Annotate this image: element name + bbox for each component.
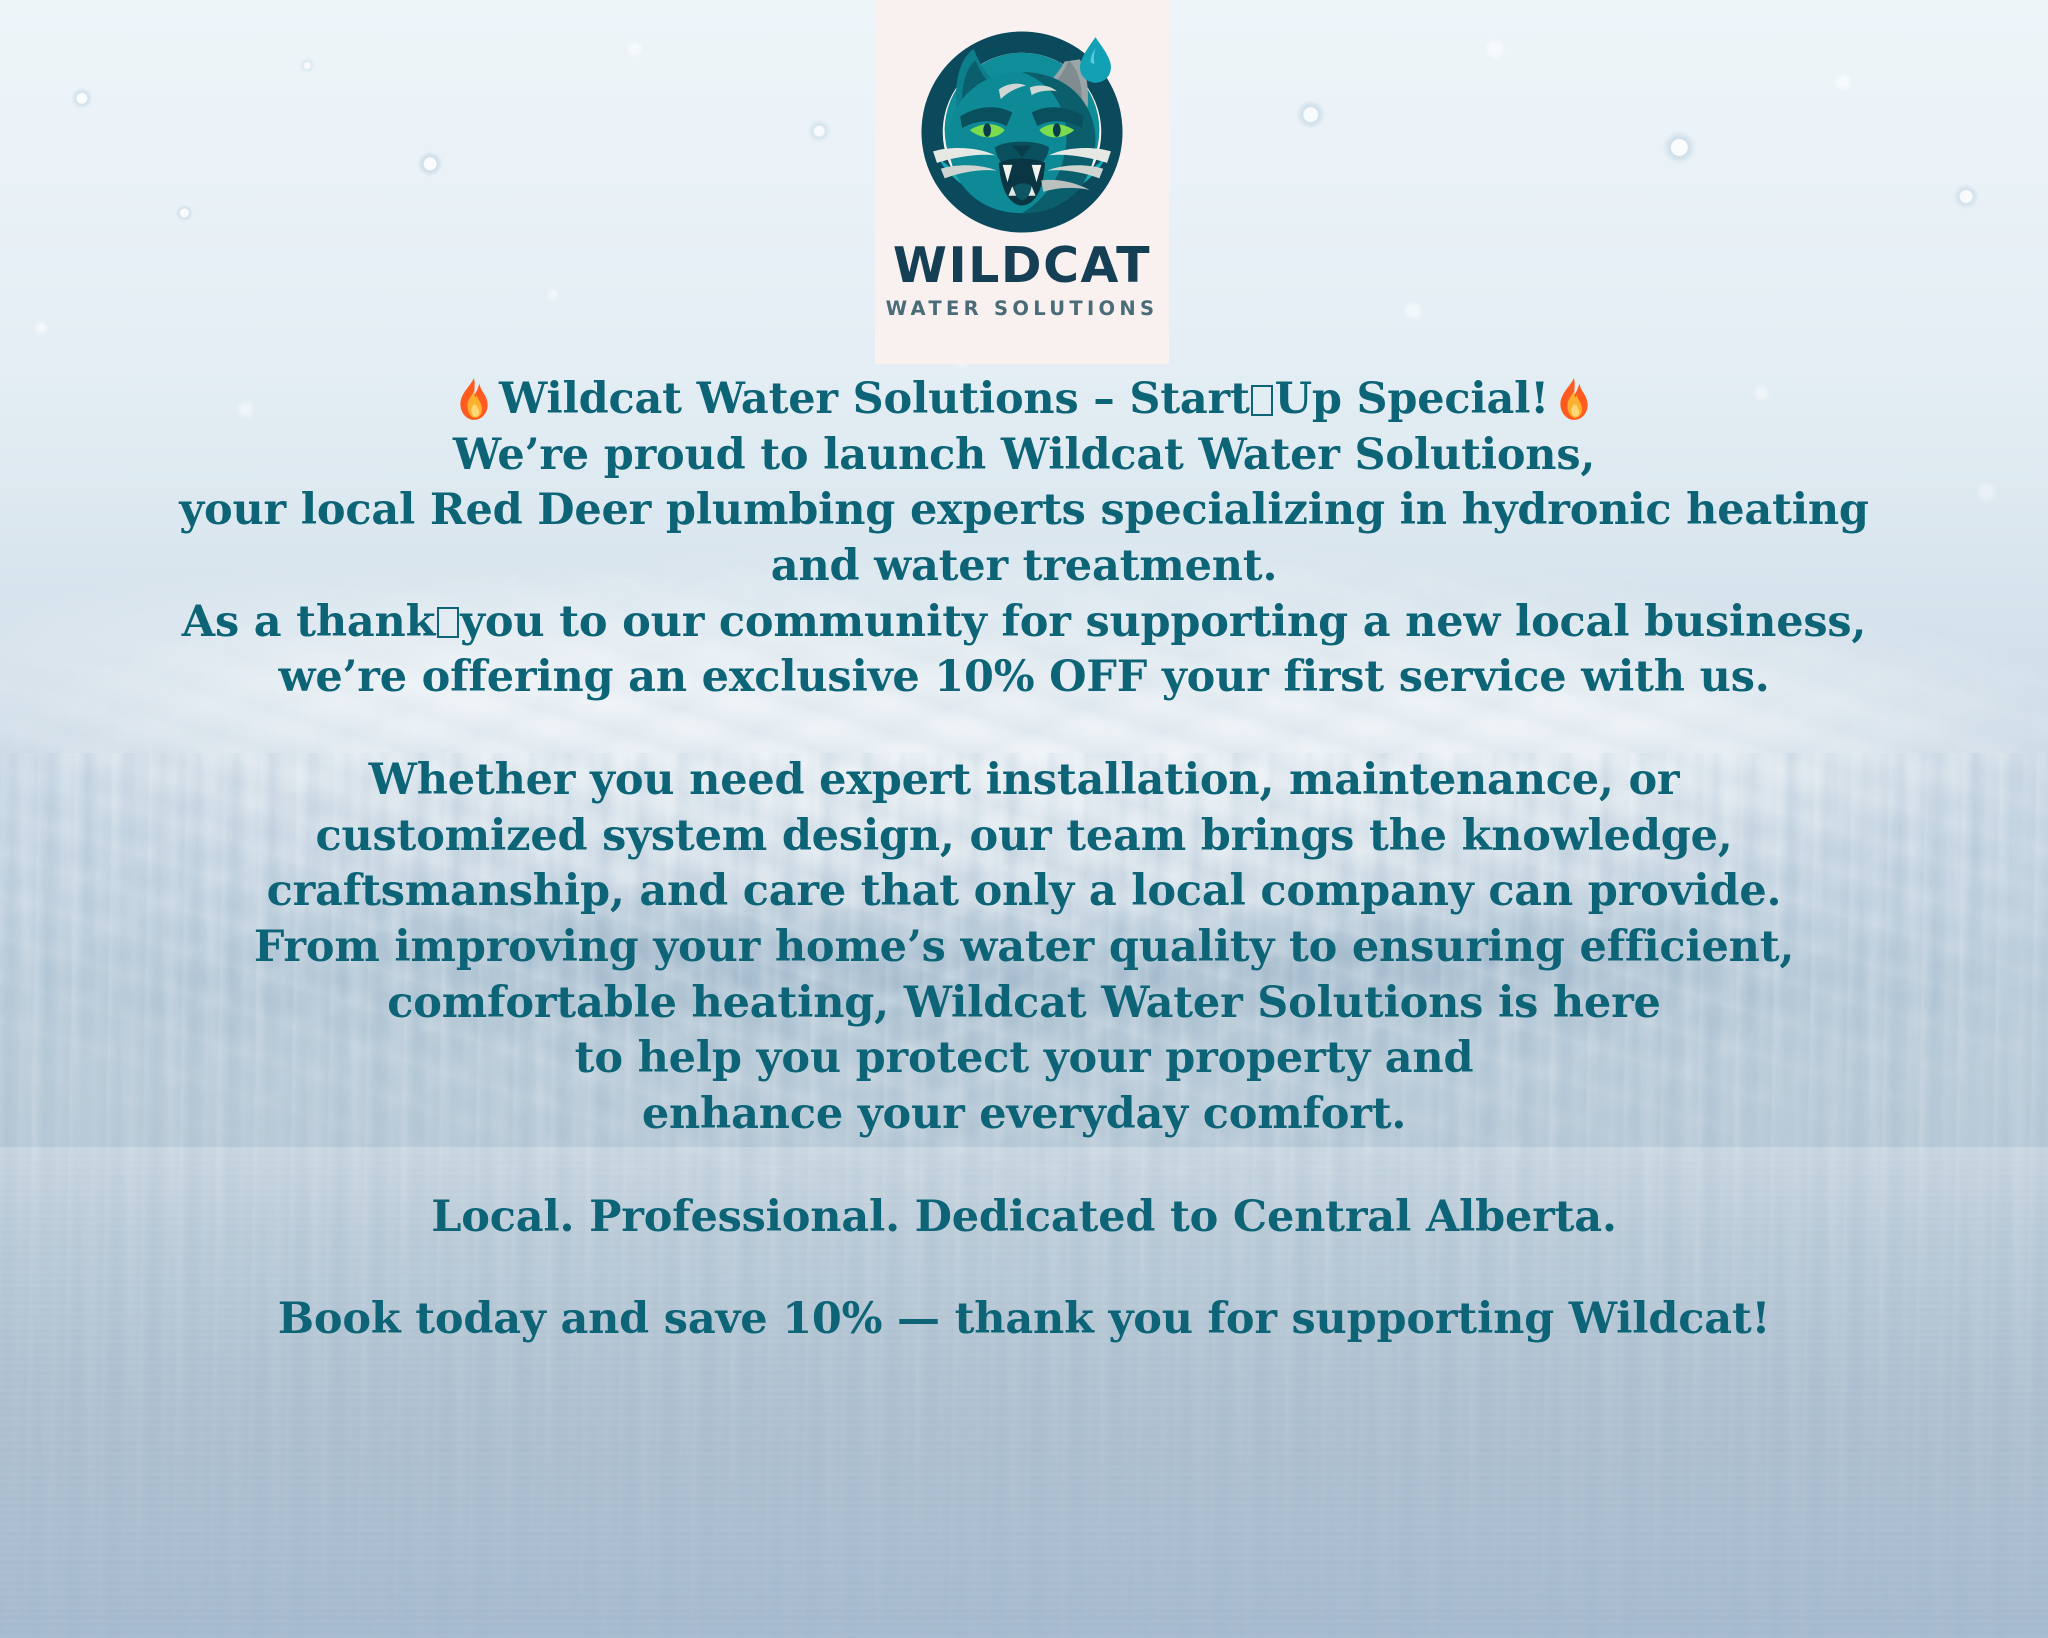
fire-emoji-icon (1555, 377, 1593, 421)
intro-line-3: and water treatment. (0, 539, 2048, 595)
offer-text-before-tofu: As a thank (182, 597, 435, 647)
logo-tagline: WATER SOLUTIONS (886, 297, 1159, 320)
post-copy: Wildcat Water Solutions – StartUp Specia… (0, 372, 2048, 1348)
body-line-1: Whether you need expert installation, ma… (0, 753, 2048, 809)
body-line-6: to help you protect your property and (0, 1031, 2048, 1087)
body-line-5: comfortable heating, Wildcat Water Solut… (0, 976, 2048, 1032)
offer-line-1: As a thankyou to our community for suppo… (0, 595, 2048, 651)
missing-glyph-box (437, 607, 459, 638)
logo-badge: WILDCAT WATER SOLUTIONS (875, 0, 1169, 364)
wildcat-head-with-water-drop-icon (906, 16, 1138, 248)
paragraph-spacer (0, 706, 2048, 753)
fire-emoji-icon (455, 377, 493, 421)
logo-wordmark: WILDCAT (893, 242, 1151, 290)
body-line-3: craftsmanship, and care that only a loca… (0, 864, 2048, 920)
missing-glyph-box (1251, 385, 1273, 416)
cta-line: Book today and save 10% — thank you for … (0, 1292, 2048, 1348)
intro-line-1: We’re proud to launch Wildcat Water Solu… (0, 428, 2048, 484)
offer-line-2: we’re offering an exclusive 10% OFF your… (0, 650, 2048, 706)
body-line-4: From improving your home’s water quality… (0, 920, 2048, 976)
offer-text-after-tofu: you to our community for supporting a ne… (460, 597, 1866, 647)
headline-line: Wildcat Water Solutions – StartUp Specia… (0, 372, 2048, 428)
intro-line-2: your local Red Deer plumbing experts spe… (0, 483, 2048, 539)
slogan-line: Local. Professional. Dedicated to Centra… (0, 1190, 2048, 1246)
paragraph-spacer (0, 1143, 2048, 1190)
social-post-image: WILDCAT WATER SOLUTIONS Wildcat Water So… (0, 0, 2048, 1638)
body-line-7: enhance your everyday comfort. (0, 1087, 2048, 1143)
paragraph-spacer (0, 1245, 2048, 1292)
headline-text-after-tofu: Up Special! (1275, 374, 1549, 424)
body-line-2: customized system design, our team bring… (0, 809, 2048, 865)
headline-text-before-tofu: Wildcat Water Solutions – Start (499, 374, 1250, 424)
